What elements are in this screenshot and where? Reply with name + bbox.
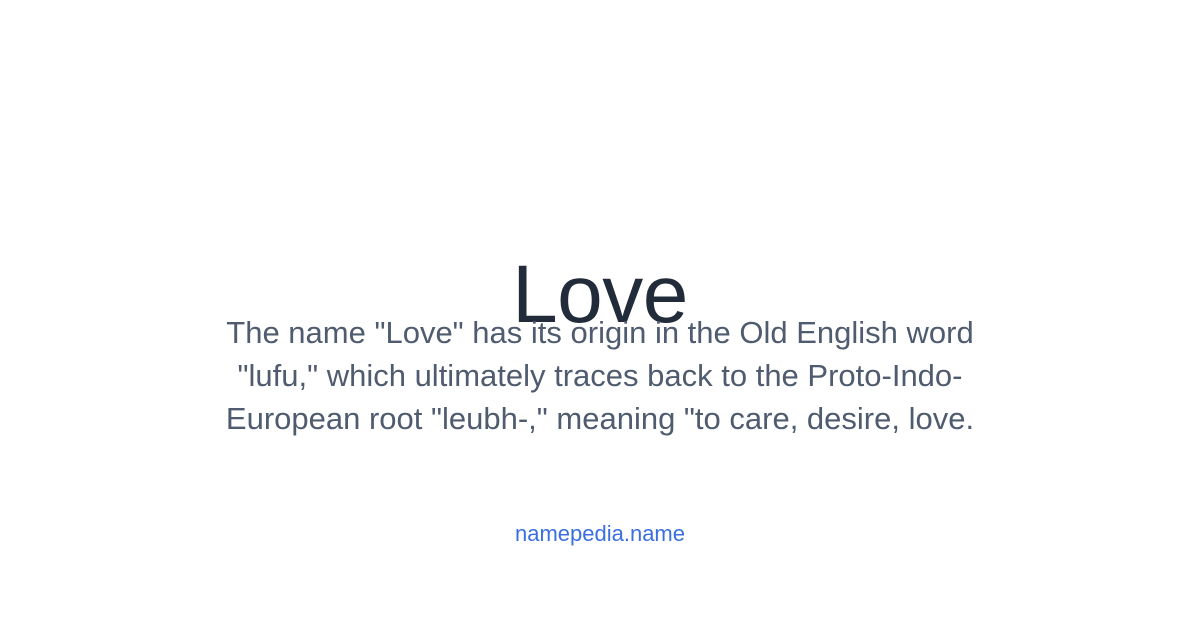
description-line: "lufu," which ultimately traces back to … [189, 354, 1011, 397]
description-line: European root "leubh-," meaning "to care… [189, 397, 1011, 440]
site-link[interactable]: namepedia.name [0, 519, 1200, 549]
name-description: The name "Love" has its origin in the Ol… [189, 311, 1011, 440]
description-line: The name "Love" has its origin in the Ol… [189, 311, 1011, 354]
name-info-card: Love The name "Love" has its origin in t… [0, 0, 1200, 630]
